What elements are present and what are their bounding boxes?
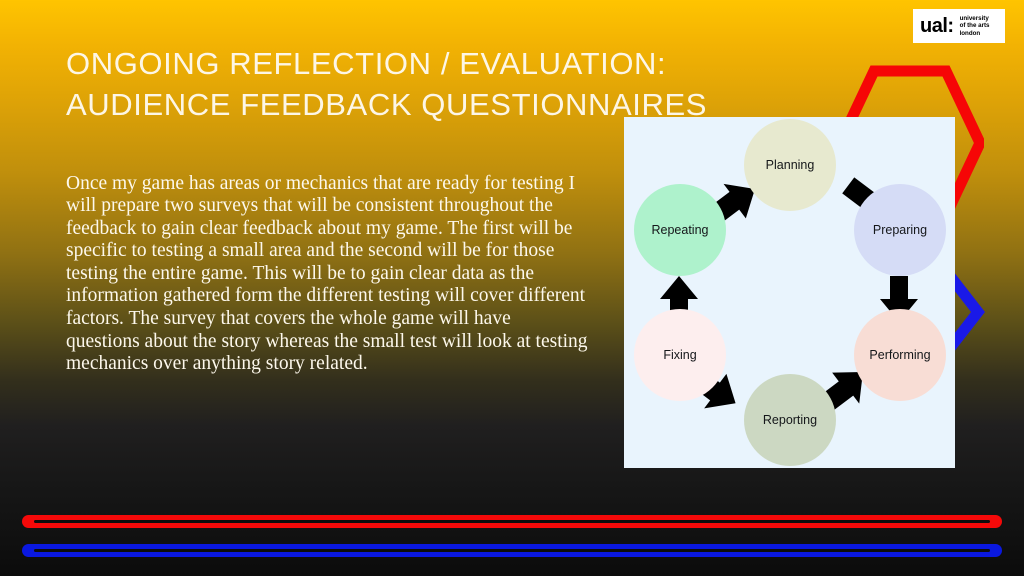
ual-logo-line-3: london [960,30,981,37]
cycle-node-fixing-label: Fixing [663,348,696,362]
blue-divider-bar-inner [34,549,990,552]
cycle-node-performing-label: Performing [869,348,930,362]
cycle-node-reporting[interactable]: Reporting [744,374,836,466]
slide-body-text: Once my game has areas or mechanics that… [66,173,588,376]
ual-logo-line-1: university [960,15,989,22]
ual-logo: ual: university of the arts london [913,9,1005,43]
cycle-node-reporting-label: Reporting [763,413,817,427]
cycle-node-preparing[interactable]: Preparing [854,184,946,276]
cycle-node-planning-label: Planning [766,158,815,172]
cycle-node-performing[interactable]: Performing [854,309,946,401]
slide-title-line-1: Ongoing reflection / evaluation: [66,43,746,84]
red-divider-bar [22,515,1002,528]
cycle-node-repeating[interactable]: Repeating [634,184,726,276]
cycle-diagram-panel: Planning Preparing Performing Reporting … [624,117,955,468]
cycle-node-fixing[interactable]: Fixing [634,309,726,401]
cycle-node-repeating-label: Repeating [652,223,709,237]
slide-canvas: ual: university of the arts london Ongoi… [0,0,1024,576]
ual-logo-subtitle: university of the arts london [960,15,990,37]
ual-logo-mark: ual: [920,16,954,36]
cycle-node-preparing-label: Preparing [873,223,927,237]
red-divider-bar-inner [34,520,990,523]
blue-divider-bar [22,544,1002,557]
cycle-node-planning[interactable]: Planning [744,119,836,211]
slide-title: Ongoing reflection / evaluation: Audienc… [66,43,746,125]
ual-logo-line-2: of the arts [960,22,990,29]
